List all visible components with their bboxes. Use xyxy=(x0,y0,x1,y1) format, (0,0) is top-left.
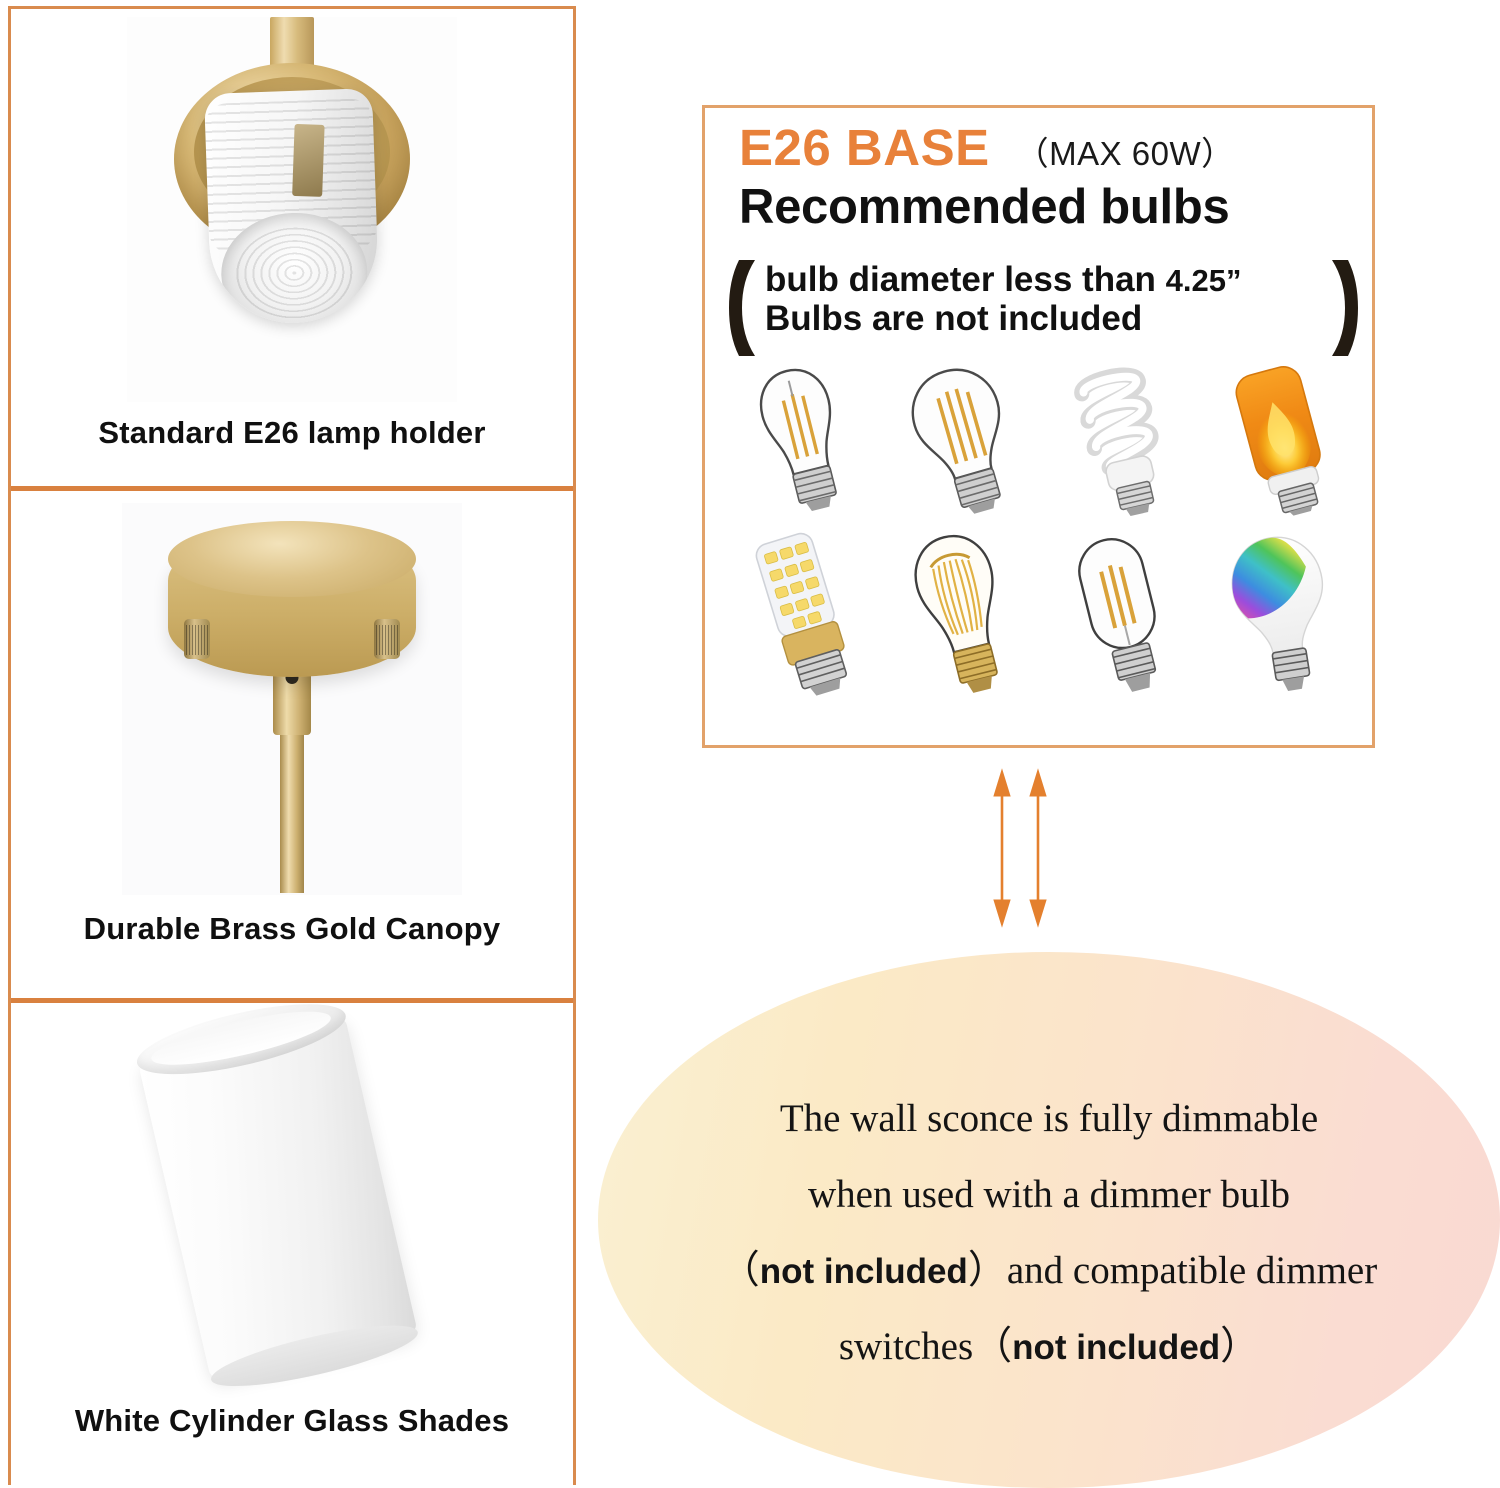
caption-glass-shade: White Cylinder Glass Shades xyxy=(11,1403,573,1439)
dimmable-line-3-tail: ）and compatible dimmer xyxy=(968,1249,1377,1292)
paren-close-2: ） xyxy=(1220,1325,1259,1368)
bulb-diameter-note-prefix: bulb diameter less than xyxy=(765,260,1166,299)
bulb-rgb-smart-bulb xyxy=(1202,521,1362,706)
bulb-t45-tubular-filament-bulb xyxy=(1043,521,1203,706)
bulbs-not-included-note: Bulbs are not included xyxy=(765,299,1322,338)
brass-gold-canopy-photo xyxy=(11,499,573,899)
e26-base-title: E26 BASE xyxy=(739,122,990,173)
white-cylinder-glass-shade-photo xyxy=(11,1017,573,1393)
double-headed-arrow-left xyxy=(994,770,1010,926)
e26-lamp-holder-photo xyxy=(11,13,573,405)
infographic-canvas: Standard E26 lamp holder Durable Brass G… xyxy=(0,0,1500,1488)
feature-panel-lamp-holder: Standard E26 lamp holder xyxy=(11,9,573,486)
bulb-image-grid xyxy=(723,356,1362,706)
left-feature-column: Standard E26 lamp holder Durable Brass G… xyxy=(8,6,576,1485)
dimmable-line-4: switches（not included） xyxy=(669,1309,1429,1385)
bulb-flame-effect-bulb xyxy=(1202,356,1362,521)
dimmable-line-3: （not included）and compatible dimmer xyxy=(669,1233,1429,1309)
left-bracket-icon xyxy=(729,260,755,356)
bulb-diameter-note: bulb diameter less than 4.25” xyxy=(765,260,1322,299)
recommended-bulbs-subtitle: Recommended bulbs xyxy=(739,181,1354,234)
canopy-disc-top xyxy=(168,521,416,597)
bulb-note-block: bulb diameter less than 4.25” Bulbs are … xyxy=(729,260,1358,356)
canopy-rod xyxy=(280,733,304,893)
double-headed-arrow-right xyxy=(1030,770,1046,926)
feature-panel-canopy: Durable Brass Gold Canopy xyxy=(11,486,573,998)
bulb-led-corn-bulb xyxy=(723,521,883,706)
white-socket-body xyxy=(204,88,380,326)
dimmable-callout-oval: The wall sconce is fully dimmable when u… xyxy=(598,952,1500,1488)
bulb-st64-edison-filament-bulb xyxy=(723,356,883,521)
bulb-diameter-value: 4.25” xyxy=(1166,263,1242,298)
bulb-a19-filament-bulb xyxy=(883,356,1043,521)
dimmable-line-2: when used with a dimmer bulb xyxy=(669,1157,1429,1233)
not-included-1: not included xyxy=(760,1252,968,1291)
socket-contact-tab xyxy=(292,123,324,196)
paren-open-1: （ xyxy=(721,1249,760,1292)
canopy-screw-left xyxy=(184,619,210,659)
right-bracket-icon xyxy=(1332,260,1358,356)
dimmable-line-4-head: switches（ xyxy=(839,1325,1012,1368)
dimmable-callout-text: The wall sconce is fully dimmable when u… xyxy=(669,1081,1429,1385)
max-wattage-label: （MAX 60W） xyxy=(1016,137,1235,170)
recommended-bulbs-panel: E26 BASE （MAX 60W） Recommended bulbs bul… xyxy=(702,105,1375,748)
bulb-st64-vintage-cage-filament-bulb xyxy=(883,521,1043,706)
canopy-screw-right xyxy=(374,619,400,659)
dimmable-line-1: The wall sconce is fully dimmable xyxy=(669,1081,1429,1157)
caption-canopy: Durable Brass Gold Canopy xyxy=(11,911,573,947)
not-included-2: not included xyxy=(1012,1328,1220,1367)
feature-panel-glass-shade: White Cylinder Glass Shades xyxy=(11,998,573,1488)
connector-arrows xyxy=(985,768,1055,928)
bulb-panel-header: E26 BASE （MAX 60W） Recommended bulbs xyxy=(739,122,1354,234)
caption-lamp-holder: Standard E26 lamp holder xyxy=(11,415,573,451)
glass-cylinder xyxy=(138,1013,419,1382)
bulb-cfl-spiral-bulb xyxy=(1043,356,1203,521)
